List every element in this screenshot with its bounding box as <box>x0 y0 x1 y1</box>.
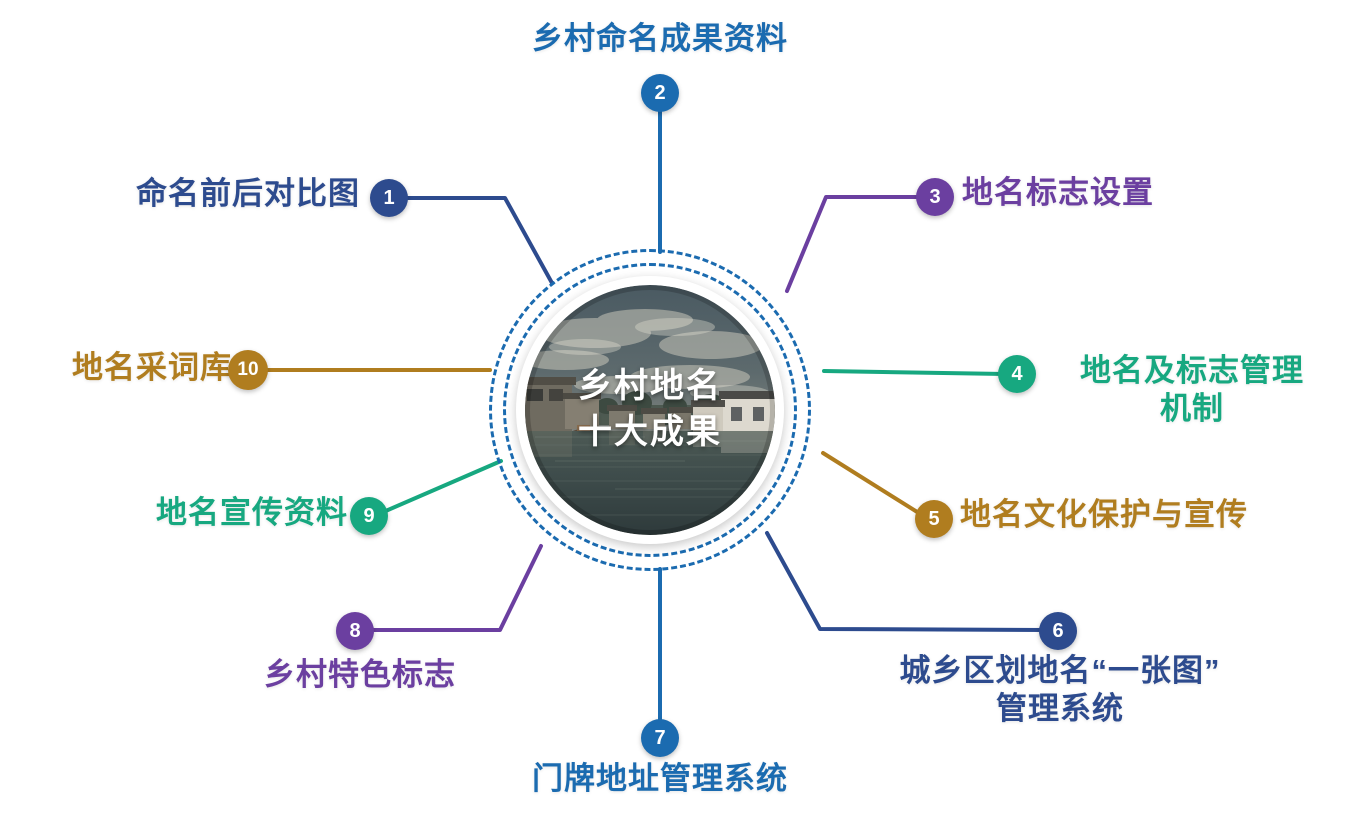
node-label-8[interactable]: 乡村特色标志 <box>215 656 505 694</box>
node-label-5[interactable]: 地名文化保护与宣传 <box>960 496 1360 534</box>
node-badge-3-number: 3 <box>929 186 940 209</box>
connector-line-9 <box>381 461 501 513</box>
connector-line-5 <box>823 453 922 515</box>
node-label-3[interactable]: 地名标志设置 <box>962 174 1322 212</box>
node-badge-8-number: 8 <box>349 620 360 643</box>
node-badge-6-number: 6 <box>1052 620 1063 643</box>
node-badge-7[interactable]: 7 <box>641 719 679 757</box>
node-label-2[interactable]: 乡村命名成果资料 <box>460 20 860 58</box>
node-badge-9-number: 9 <box>363 505 374 528</box>
water-town-photo-illustration <box>525 285 775 535</box>
node-badge-1[interactable]: 1 <box>370 179 408 217</box>
center-hub: 乡村地名 十大成果 <box>489 249 811 571</box>
node-badge-1-number: 1 <box>383 187 394 210</box>
connector-line-4 <box>824 371 1005 374</box>
node-badge-2-number: 2 <box>654 82 665 105</box>
node-label-1[interactable]: 命名前后对比图 <box>40 175 360 213</box>
node-badge-5[interactable]: 5 <box>915 500 953 538</box>
node-badge-8[interactable]: 8 <box>336 612 374 650</box>
node-badge-9[interactable]: 9 <box>350 497 388 535</box>
center-photo <box>525 285 775 535</box>
node-label-7[interactable]: 门牌地址管理系统 <box>460 760 860 798</box>
node-badge-7-number: 7 <box>654 727 665 750</box>
node-label-6[interactable]: 城乡区划地名“一张图” 管理系统 <box>840 652 1280 728</box>
node-badge-5-number: 5 <box>928 508 939 531</box>
node-label-4[interactable]: 地名及标志管理 机制 <box>1042 352 1342 428</box>
infographic-canvas: 乡村地名 十大成果 1 2 3 4 5 6 7 8 9 10 命名前后对比图 乡… <box>0 0 1365 829</box>
node-badge-4[interactable]: 4 <box>998 355 1036 393</box>
node-badge-10[interactable]: 10 <box>228 350 268 390</box>
node-label-9[interactable]: 地名宣传资料 <box>98 494 348 532</box>
node-badge-4-number: 4 <box>1011 363 1022 386</box>
node-badge-3[interactable]: 3 <box>916 178 954 216</box>
node-label-10[interactable]: 地名采词库 <box>22 349 232 387</box>
node-badge-2[interactable]: 2 <box>641 74 679 112</box>
node-badge-10-number: 10 <box>237 359 258 381</box>
node-badge-6[interactable]: 6 <box>1039 612 1077 650</box>
